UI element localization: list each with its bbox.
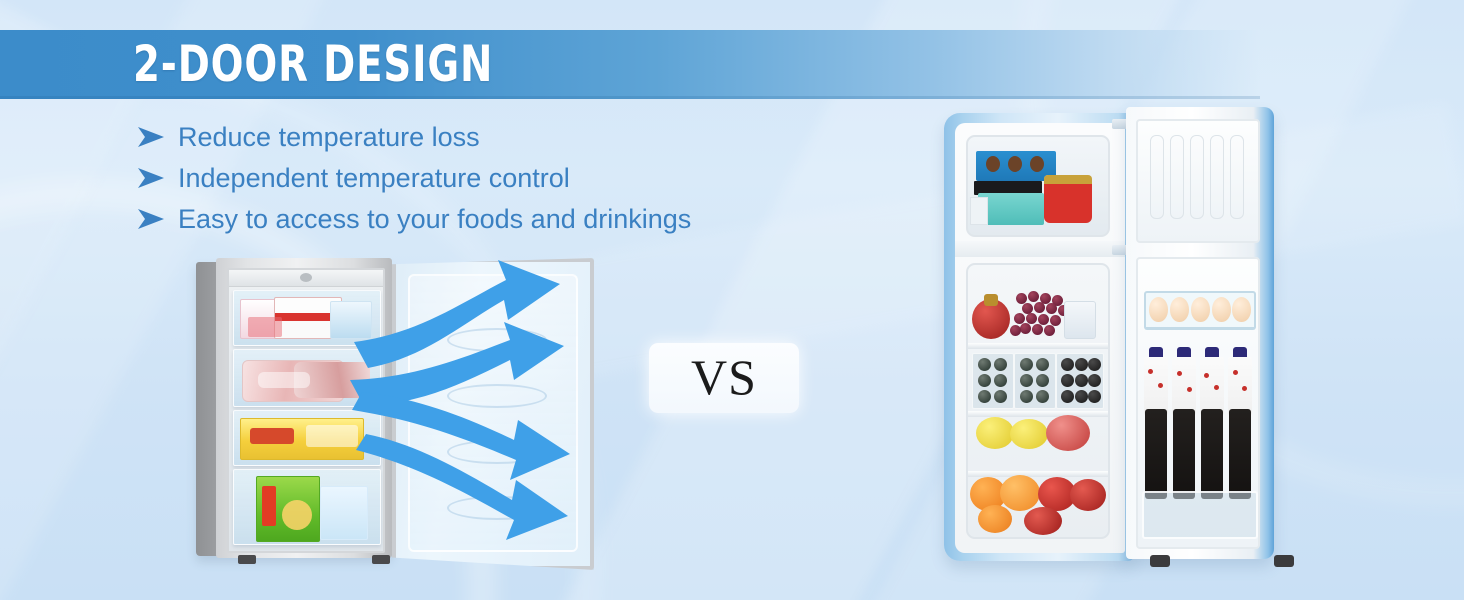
orange [1000,475,1040,511]
page-title: 2-DOOR DESIGN [133,34,493,94]
freezer-compartment [966,135,1110,237]
feature-list: Reduce temperature loss Independent temp… [136,118,691,241]
fridge-shelf [968,411,1108,417]
feature-item: Easy to access to your foods and drinkin… [136,200,691,238]
door-bottle-rack [1144,347,1256,507]
fridge-shell [944,113,1134,561]
fridge-foot-left [238,555,256,564]
bottle-crate [972,353,1014,409]
fridge-foot-left [1150,555,1170,567]
beverage-bottle [1172,347,1196,499]
ice-cream-tub [1044,175,1092,223]
promo-banner-image: 2-DOOR DESIGN Reduce temperature loss In… [0,0,1464,600]
two-door-fridge-image [944,113,1274,573]
bottle-crate [1014,353,1056,409]
food-item [248,317,282,337]
right-triangle-arrow-icon [136,126,166,148]
vs-badge: VS [649,343,799,413]
feature-label: Independent temperature control [178,163,570,194]
food-item [282,500,312,530]
fridge-doors-open [1126,107,1274,559]
tomato [1070,479,1106,511]
bottle-crate [1056,353,1104,409]
feature-item: Independent temperature control [136,159,691,197]
fridge-shelf [968,343,1108,349]
right-triangle-arrow-icon [136,167,166,189]
feature-label: Easy to access to your foods and drinkin… [178,204,691,235]
lemon [1010,419,1048,449]
refrigerator-compartment [966,263,1110,539]
cold-air-arrows [346,254,606,564]
fridge-foot-right [1274,555,1294,567]
freezer-door-panel [1136,119,1260,243]
fridge-door-panel [1136,257,1260,549]
vs-label: VS [691,352,757,402]
tomato [1024,507,1062,535]
single-door-fridge-image [196,258,586,568]
beverage-bottle [1228,347,1252,499]
feature-item: Reduce temperature loss [136,118,691,156]
beverage-bottle [1200,347,1224,499]
frozen-item [970,197,988,225]
beverage-bottle [1144,347,1168,499]
lemon [976,417,1014,449]
apple [1046,415,1090,451]
door-bin-item [1064,301,1096,339]
airflow-arrow-3 [352,392,570,480]
food-item [258,372,310,388]
egg-tray [1144,291,1256,330]
feature-label: Reduce temperature loss [178,122,480,153]
orange [978,505,1012,533]
right-triangle-arrow-icon [136,208,166,230]
door-storage-bin [1142,491,1258,539]
temperature-knob [300,273,312,282]
compartment-divider [955,241,1125,257]
food-item [250,428,294,444]
food-item [262,486,276,526]
pomegranate [972,299,1010,339]
